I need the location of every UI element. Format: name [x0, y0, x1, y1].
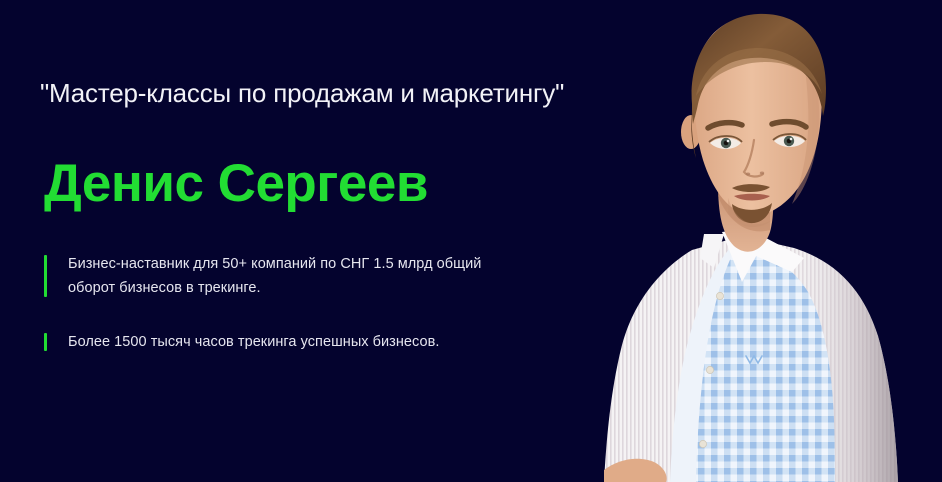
- list-item: Бизнес-наставник для 50+ компаний по СНГ…: [44, 252, 514, 300]
- text-column: "Мастер-классы по продажам и маркетингу"…: [0, 0, 600, 482]
- accent-bar-icon: [44, 255, 47, 297]
- list-item: Более 1500 тысяч часов трекинга успешных…: [44, 330, 514, 354]
- slide-kicker: "Мастер-классы по продажам и маркетингу": [40, 78, 564, 108]
- bullet-text: Более 1500 тысяч часов трекинга успешных…: [68, 330, 514, 354]
- accent-bar-icon: [44, 333, 47, 351]
- speaker-photo: [542, 0, 942, 482]
- bullet-list: Бизнес-наставник для 50+ компаний по СНГ…: [44, 252, 514, 384]
- bullet-text: Бизнес-наставник для 50+ компаний по СНГ…: [68, 252, 514, 300]
- speaker-portrait-illustration: [542, 0, 942, 482]
- promo-slide: "Мастер-классы по продажам и маркетингу"…: [0, 0, 942, 482]
- speaker-name: Денис Сергеев: [44, 155, 428, 213]
